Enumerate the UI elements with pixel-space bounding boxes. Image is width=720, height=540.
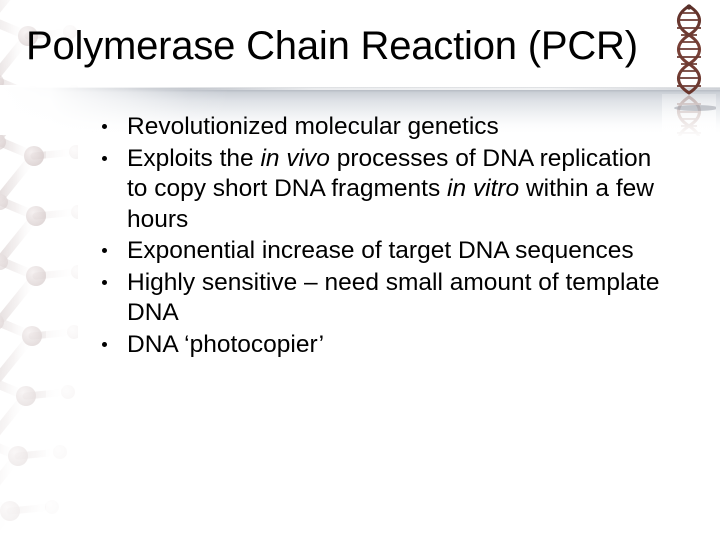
bullet-marker-icon bbox=[102, 342, 107, 347]
list-item: Exponential increase of target DNA seque… bbox=[96, 236, 676, 267]
bullet-text: DNA ‘photocopier’ bbox=[127, 330, 676, 361]
bullet-text: Revolutionized molecular genetics bbox=[127, 112, 676, 143]
bullet-marker-icon bbox=[102, 124, 107, 129]
list-item: Revolutionized molecular genetics bbox=[96, 112, 676, 143]
list-item: DNA ‘photocopier’ bbox=[96, 330, 676, 361]
shelf-highlight-line bbox=[140, 88, 720, 90]
bullet-marker-icon bbox=[102, 156, 107, 161]
list-item: Highly sensitive – need small amount of … bbox=[96, 268, 676, 329]
slide-title: Polymerase Chain Reaction (PCR) bbox=[26, 22, 666, 70]
bullet-marker-icon bbox=[102, 280, 107, 285]
bullet-text: Exponential increase of target DNA seque… bbox=[127, 236, 676, 267]
bullet-text: Exploits the in vivo processes of DNA re… bbox=[127, 144, 676, 236]
bullet-text: Highly sensitive – need small amount of … bbox=[127, 268, 676, 329]
molecular-model-artwork bbox=[0, 0, 78, 540]
list-item: Exploits the in vivo processes of DNA re… bbox=[96, 144, 676, 236]
bullet-list: Revolutionized molecular genetics Exploi… bbox=[96, 112, 676, 361]
slide: Polymerase Chain Reaction (PCR) Revoluti… bbox=[0, 0, 720, 540]
bullet-marker-icon bbox=[102, 248, 107, 253]
